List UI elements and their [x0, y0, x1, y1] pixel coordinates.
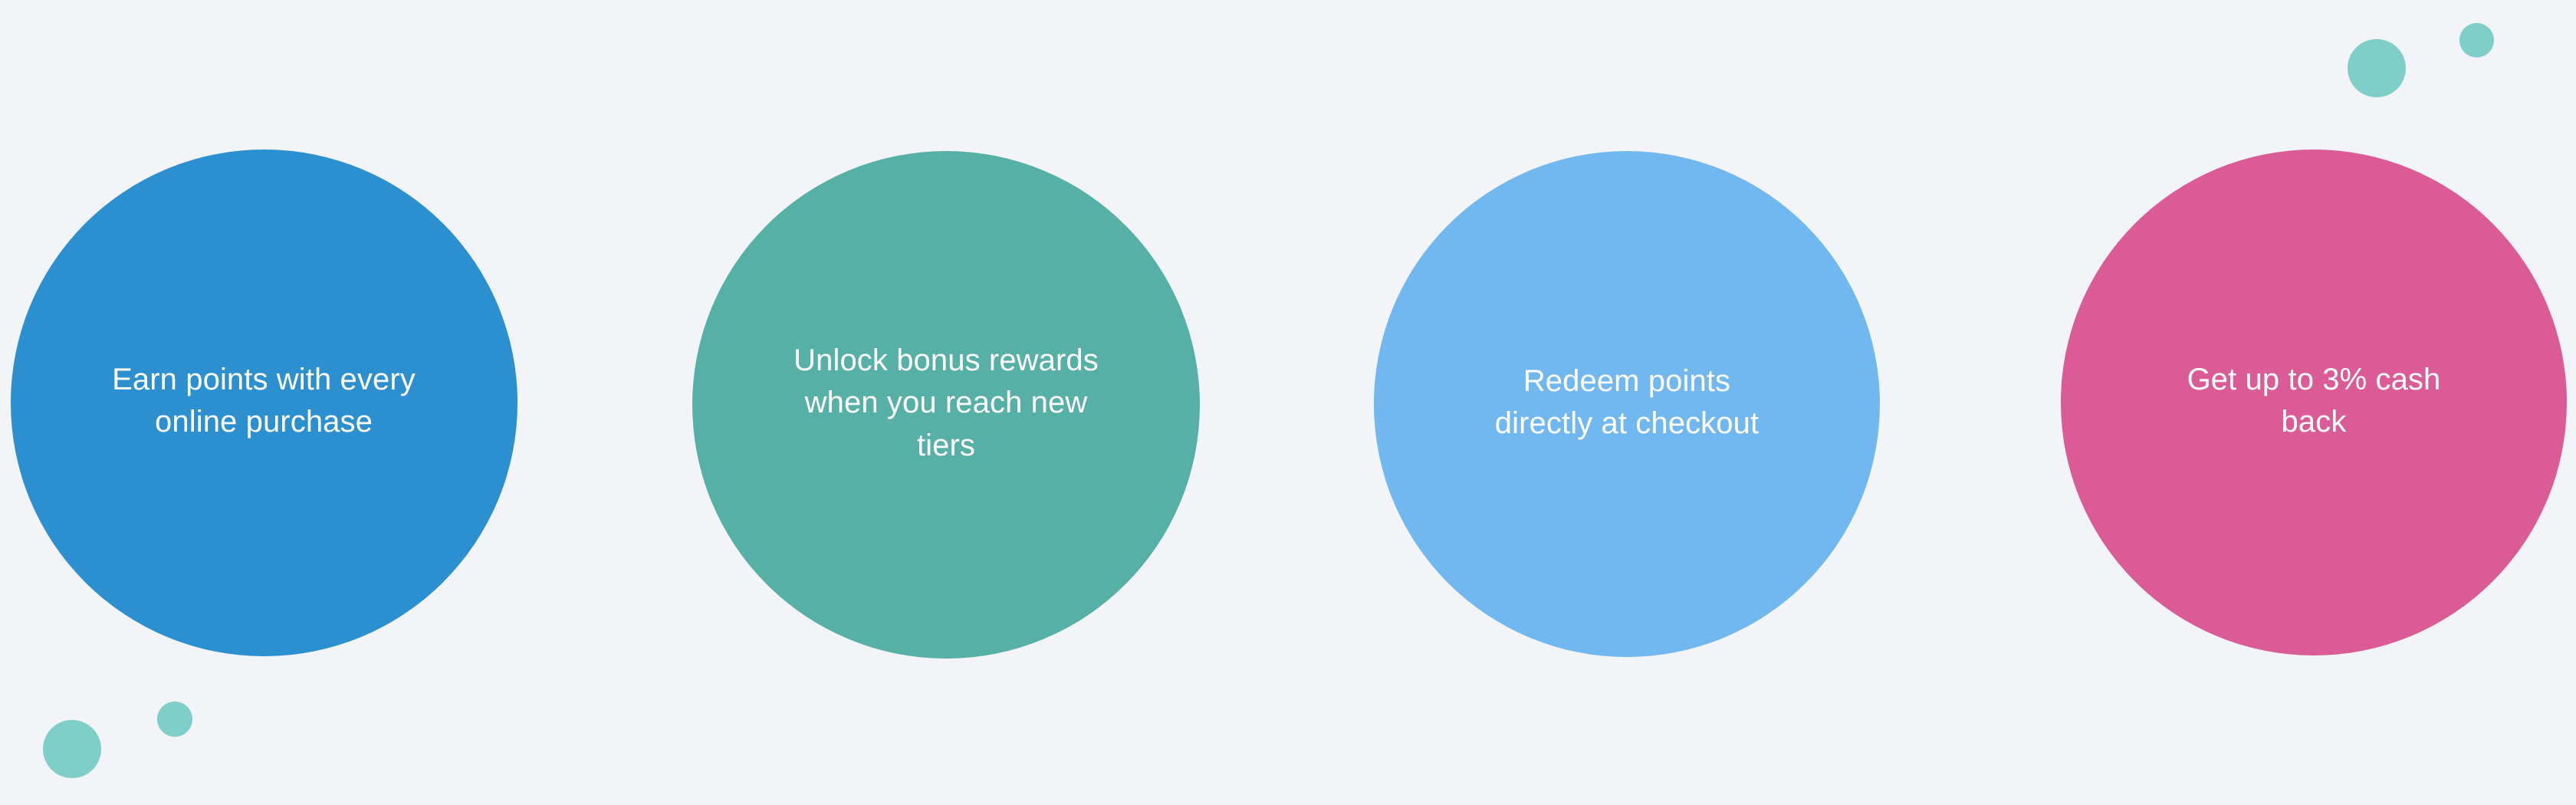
bubble-unlock-bonus-rewards[interactable]: Unlock bonus rewards when you reach new …	[692, 151, 1200, 659]
bubble-label: Earn points with every online purchase	[41, 359, 487, 443]
bubble-redeem-points[interactable]: Redeem points directly at checkout	[1374, 151, 1880, 657]
bubble-earn-points[interactable]: Earn points with every online purchase	[11, 149, 517, 656]
bubble-label: Unlock bonus rewards when you reach new …	[722, 340, 1169, 467]
decorative-dot-icon	[43, 720, 101, 778]
bubble-label: Redeem points directly at checkout	[1424, 360, 1829, 445]
bubble-diagram-canvas: Earn points with every online purchase U…	[0, 0, 2576, 805]
bubble-label: Get up to 3% cash back	[2116, 359, 2512, 443]
decorative-dot-icon	[2348, 39, 2406, 97]
decorative-dot-icon	[2459, 23, 2494, 58]
decorative-dot-icon	[157, 701, 192, 737]
bubble-cash-back[interactable]: Get up to 3% cash back	[2061, 149, 2567, 655]
